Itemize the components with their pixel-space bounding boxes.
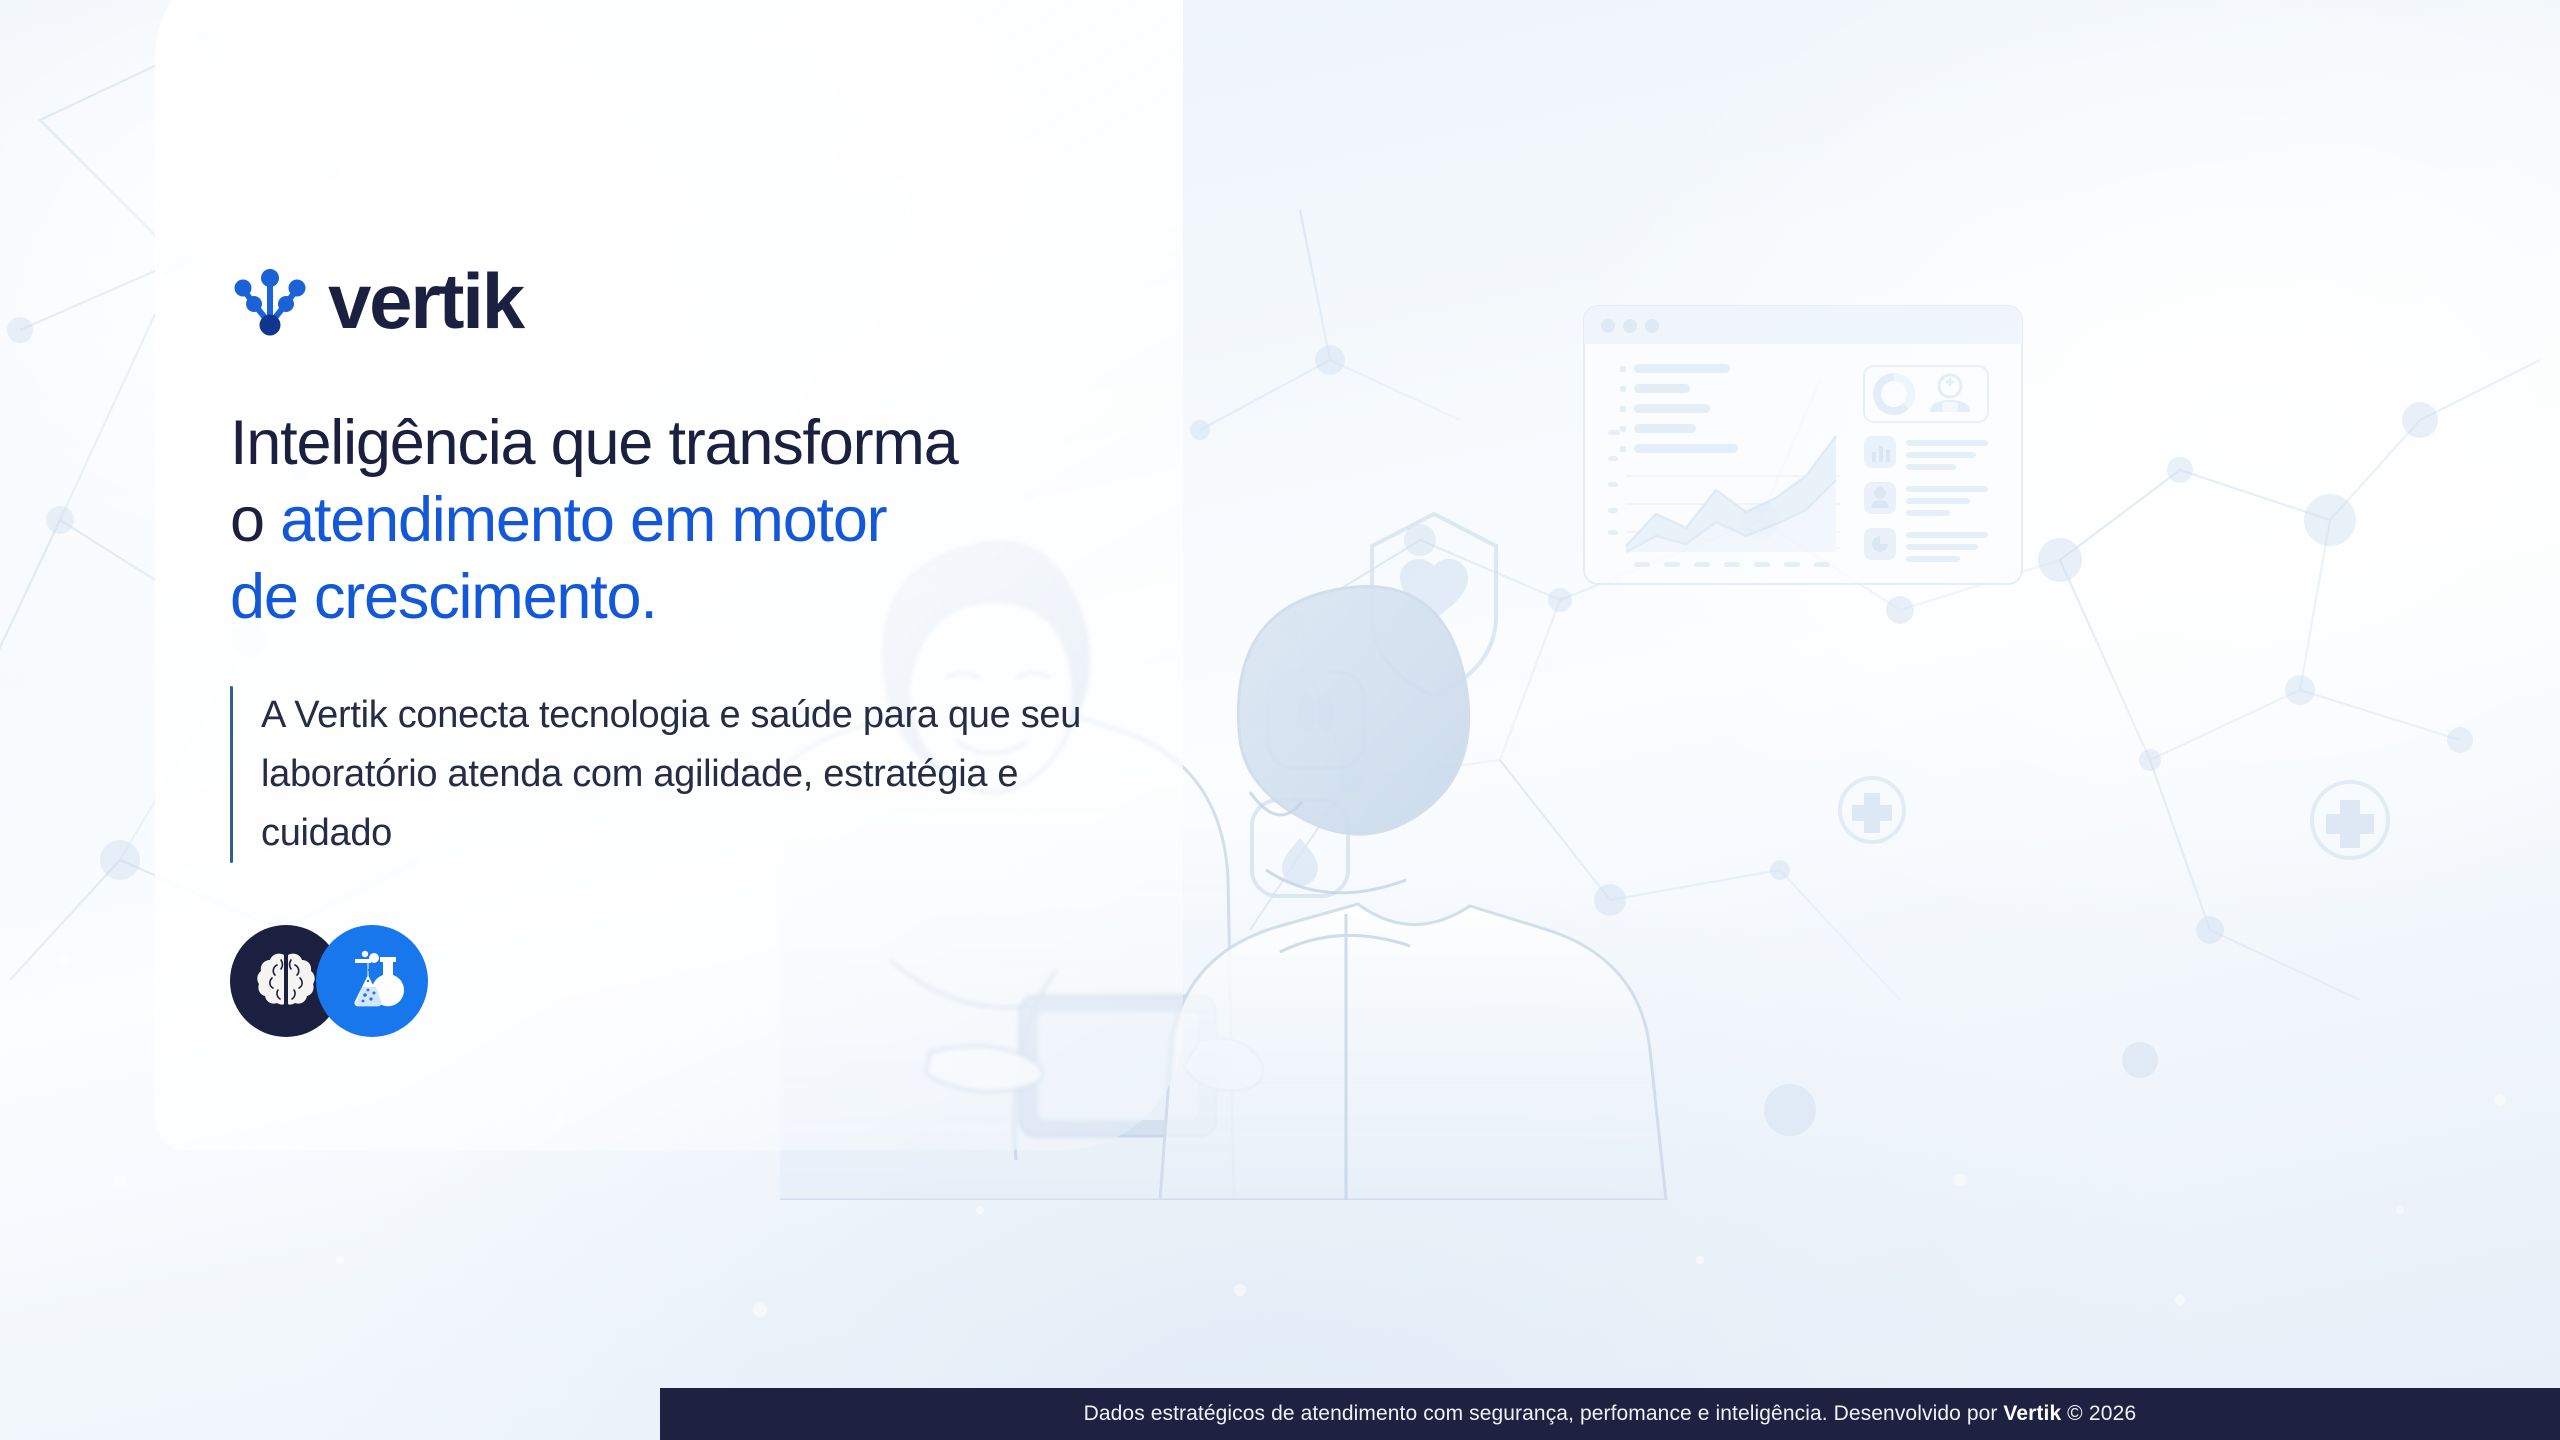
donut-chart-widget (1877, 377, 1911, 411)
window-dots (1601, 319, 1659, 333)
hero-content: vertik Inteligência que transforma o ate… (230, 255, 1190, 1037)
brand-logo[interactable]: vertik (230, 255, 1190, 347)
footer-bar: Dados estratégicos de atendimento com se… (660, 1388, 2560, 1440)
brain-icon (250, 945, 322, 1017)
footer-brand: Vertik (2003, 1402, 2061, 1425)
subtitle-text: A Vertik conecta tecnologia e saúde para… (261, 686, 1121, 864)
subtitle-block: A Vertik conecta tecnologia e saúde para… (230, 686, 1190, 864)
dashboard-mockup (1578, 300, 2028, 590)
headline-line-2-plain: o (230, 485, 280, 555)
hero-banner: vertik Inteligência que transforma o ate… (0, 0, 2560, 1440)
footer-message: Dados estratégicos de atendimento com se… (1084, 1402, 2004, 1425)
network-tree-icon (230, 261, 310, 341)
footer-text: Dados estratégicos de atendimento com se… (1084, 1402, 2137, 1426)
brand-name: vertik (328, 262, 523, 340)
headline-line-3-accent: de crescimento. (230, 562, 657, 632)
feature-badges (230, 925, 1190, 1037)
subtitle-accent-rule (230, 686, 233, 864)
footer-copyright: © 2026 (2067, 1402, 2136, 1425)
headline-line-1: Inteligência que transforma (230, 408, 958, 478)
headline-line-2-accent: atendimento em motor (280, 485, 886, 555)
badge-lab[interactable] (316, 925, 428, 1037)
lab-flask-icon (338, 947, 406, 1015)
user-card-widget (1930, 375, 1970, 412)
page-title: Inteligência que transforma o atendiment… (230, 405, 1060, 636)
